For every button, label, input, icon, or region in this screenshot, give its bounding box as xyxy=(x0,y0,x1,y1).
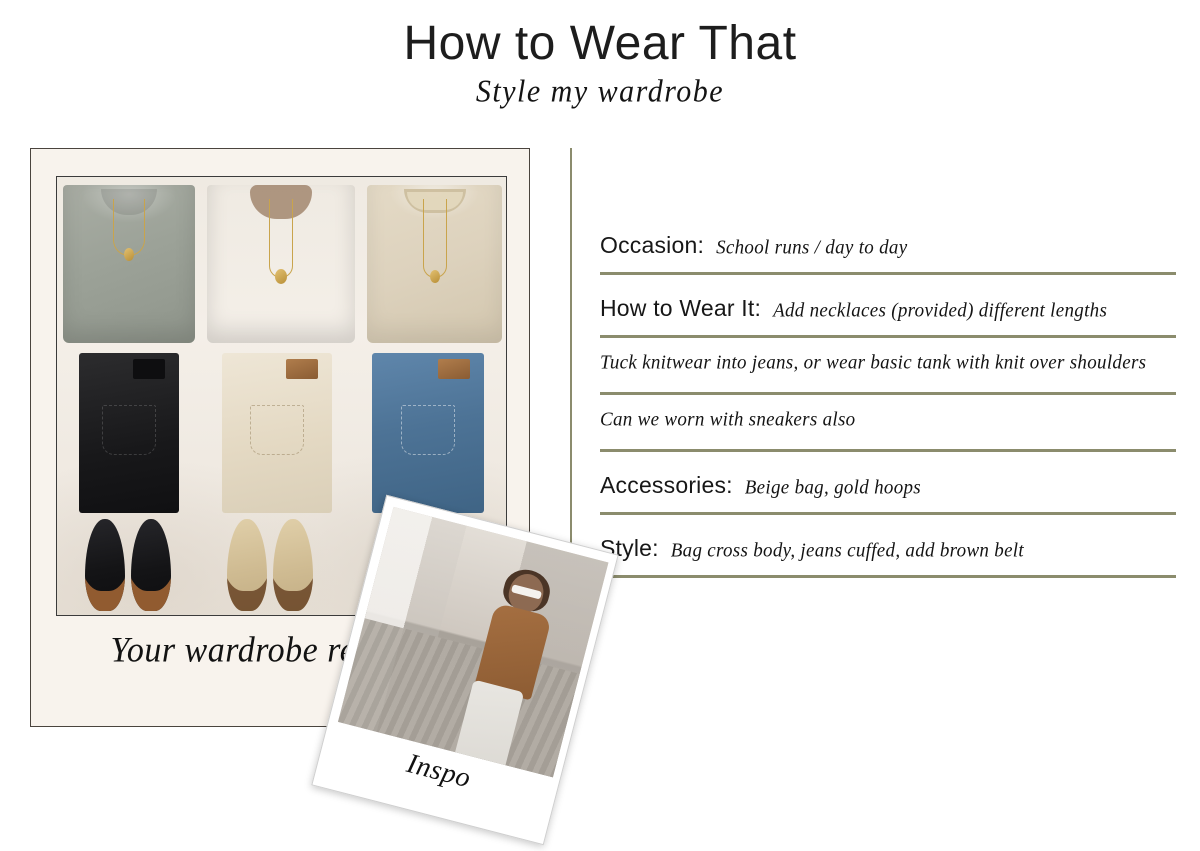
brown-sweater-item xyxy=(207,185,355,343)
cream-jeans-item xyxy=(222,353,332,513)
detail-row-occasion: Occasion: School runs / day to day xyxy=(600,232,1176,281)
detail-label-how-to-wear-it: How to Wear It: xyxy=(600,295,761,322)
row-separator xyxy=(600,272,1176,275)
jeans-pocket-shape xyxy=(250,405,304,455)
jeans-pocket-shape xyxy=(102,405,156,455)
page-subtitle: Style my wardrobe xyxy=(0,70,1200,110)
vertical-divider xyxy=(570,148,572,585)
row-separator xyxy=(600,335,1176,338)
detail-value-occasion: School runs / day to day xyxy=(716,236,907,259)
detail-row-how-to-wear-it: How to Wear It: Add necklaces (provided)… xyxy=(600,295,1176,344)
row-separator xyxy=(600,575,1176,578)
pendant-shape xyxy=(275,269,287,284)
detail-value-sneakers: Can we worn with sneakers also xyxy=(600,408,855,431)
jeans-label-patch xyxy=(438,359,470,379)
detail-value-accessories: Beige bag, gold hoops xyxy=(745,476,921,499)
grey-sweater-item xyxy=(63,185,195,343)
pendant-shape xyxy=(430,270,440,283)
detail-label-occasion: Occasion: xyxy=(600,232,704,259)
jeans-label-patch xyxy=(286,359,318,379)
row-separator xyxy=(600,392,1176,395)
cream-sweater-item xyxy=(367,185,502,343)
row-separator xyxy=(600,512,1176,515)
inspo-photo xyxy=(338,507,609,778)
jeans-label-patch xyxy=(133,359,165,379)
detail-value-tuck-knitwear: Tuck knitwear into jeans, or wear basic … xyxy=(600,351,1146,374)
detail-row-sneakers: Can we worn with sneakers also xyxy=(600,409,1176,458)
pendant-shape xyxy=(124,248,134,261)
gold-necklace-icon xyxy=(113,199,145,256)
detail-row-accessories: Accessories: Beige bag, gold hoops xyxy=(600,472,1176,521)
shoe-shape xyxy=(227,519,267,611)
gold-necklace-icon xyxy=(269,199,293,278)
shoe-shape xyxy=(85,519,125,611)
black-loafers-item xyxy=(85,519,171,611)
blue-jeans-item xyxy=(372,353,484,513)
detail-label-accessories: Accessories: xyxy=(600,472,733,499)
shoe-shape xyxy=(131,519,171,611)
shoe-shape xyxy=(273,519,313,611)
page-header: How to Wear That Style my wardrobe xyxy=(0,0,1200,109)
detail-row-style: Style: Bag cross body, jeans cuffed, add… xyxy=(600,535,1176,584)
beige-mules-item xyxy=(227,519,313,611)
detail-row-tuck-knitwear: Tuck knitwear into jeans, or wear basic … xyxy=(600,352,1176,401)
detail-value-how-to-wear-it: Add necklaces (provided) different lengt… xyxy=(773,299,1107,322)
black-jeans-item xyxy=(79,353,179,513)
jeans-pocket-shape xyxy=(401,405,455,455)
details-panel: Occasion: School runs / day to day How t… xyxy=(600,232,1176,584)
row-separator xyxy=(600,449,1176,452)
gold-necklace-icon xyxy=(423,199,447,278)
page-title: How to Wear That xyxy=(0,0,1200,71)
detail-value-style: Bag cross body, jeans cuffed, add brown … xyxy=(671,539,1024,562)
